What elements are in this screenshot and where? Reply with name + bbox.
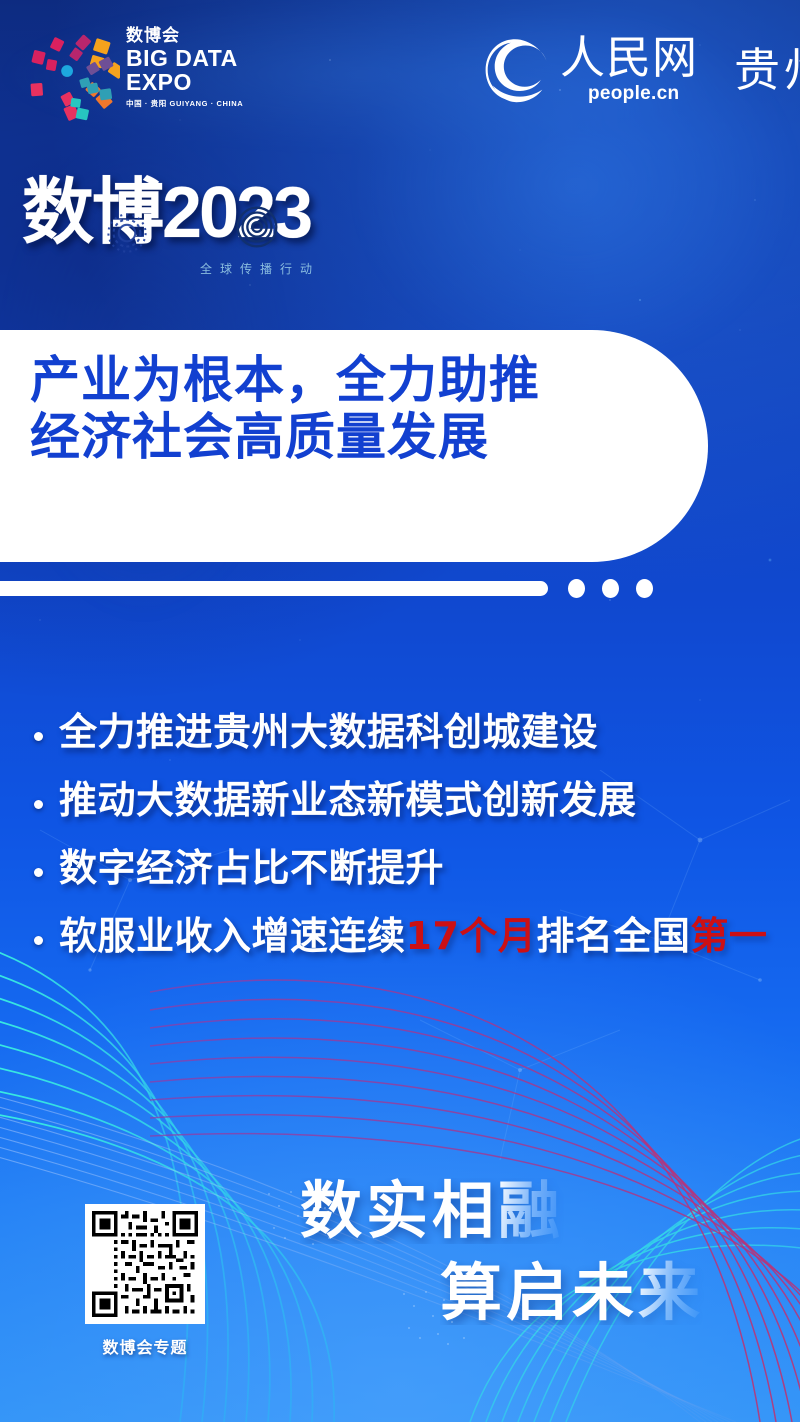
divider-dots <box>568 579 653 598</box>
bullet-text: 软服业收入增速连续17个月排名全国第一 <box>59 910 767 964</box>
slogan-line2: 算启未来 <box>440 1260 770 1326</box>
people-cn-globe-logo-icon <box>480 35 550 105</box>
bullet-text: 数字经济占比不断提升 <box>59 842 444 896</box>
event-lockup-text: 数博2023 <box>22 176 382 249</box>
qr-block[interactable]: 数博会专题 <box>85 1204 205 1358</box>
bullet-text-part: 排名全国 <box>536 914 690 958</box>
qr-code-frame[interactable] <box>85 1204 205 1324</box>
list-item: 推动大数据新业态新模式创新发展 <box>34 774 774 828</box>
page-title-line2: 经济社会高质量发展 <box>30 409 660 466</box>
bullet-dot-icon <box>34 936 43 945</box>
big-data-expo-wordmark: 数博会 BIG DATA EXPO 中国 · 贵阳 GUIYANG · CHIN… <box>126 26 256 109</box>
people-region-label: 贵州 <box>734 47 800 93</box>
people-cn-logo: 人民网 people.cn 贵州 <box>480 30 800 110</box>
bullet-list: 全力推进贵州大数据科创城建设 推动大数据新业态新模式创新发展 数字经济占比不断提… <box>34 706 774 978</box>
slogan-block: 数实相融 算启未来 <box>300 1178 770 1368</box>
list-item: 全力推进贵州大数据科创城建设 <box>34 706 774 760</box>
divider <box>0 578 800 598</box>
qr-code-label: 数博会专题 <box>85 1334 205 1358</box>
bullet-dot-icon <box>34 868 43 877</box>
qr-code-icon[interactable] <box>92 1211 198 1317</box>
expo-cn-name: 数博会 <box>126 26 256 46</box>
slogan-line1: 数实相融 <box>300 1178 770 1244</box>
lockup-target-ring-icon <box>228 198 286 256</box>
bullet-text-highlight: 17个月 <box>406 914 537 958</box>
expo-en-line2: EXPO <box>126 70 256 94</box>
expo-location: 中国 · 贵阳 GUIYANG · CHINA <box>126 98 256 109</box>
divider-bar <box>0 581 548 596</box>
expo-en-line1: BIG DATA <box>126 46 256 70</box>
title-panel: 产业为根本，全力助推 经济社会高质量发展 <box>0 330 708 562</box>
bullet-text: 全力推进贵州大数据科创城建设 <box>59 706 598 760</box>
lockup-gear-ring-icon <box>96 200 158 262</box>
page-title-line1: 产业为根本，全力助推 <box>30 352 660 409</box>
list-item: 软服业收入增速连续17个月排名全国第一 <box>34 910 774 964</box>
divider-dot <box>602 579 619 598</box>
bullet-dot-icon <box>34 800 43 809</box>
poster-root: 数博会 BIG DATA EXPO 中国 · 贵阳 GUIYANG · CHIN… <box>0 0 800 1422</box>
slogan-line2-text: 算启未来 <box>440 1260 704 1326</box>
divider-dot <box>568 579 585 598</box>
slogan-line1-text: 数实相融 <box>300 1178 564 1244</box>
bullet-dot-icon <box>34 732 43 741</box>
people-wordmark: 人民网 people.cn <box>560 33 710 107</box>
divider-dot <box>636 579 653 598</box>
bullet-text: 推动大数据新业态新模式创新发展 <box>59 774 637 828</box>
people-cn-name: 人民网 <box>560 35 698 80</box>
list-item: 数字经济占比不断提升 <box>34 842 774 896</box>
bullet-text-highlight: 第一 <box>690 914 767 958</box>
people-en-name: people.cn <box>588 83 679 105</box>
poster-header: 数博会 BIG DATA EXPO 中国 · 贵阳 GUIYANG · CHIN… <box>0 0 800 140</box>
big-data-expo-logo: 数博会 BIG DATA EXPO 中国 · 贵阳 GUIYANG · CHIN… <box>22 22 252 122</box>
title-panel-inner: 产业为根本，全力助推 经济社会高质量发展 <box>0 330 660 562</box>
event-lockup: 数博2023 全球传播行动 <box>22 176 382 281</box>
event-lockup-subtitle: 全球传播行动 <box>200 260 320 277</box>
big-data-expo-spiral-logo-icon <box>22 24 120 122</box>
bullet-text-part: 软服业收入增速连续 <box>59 914 406 958</box>
